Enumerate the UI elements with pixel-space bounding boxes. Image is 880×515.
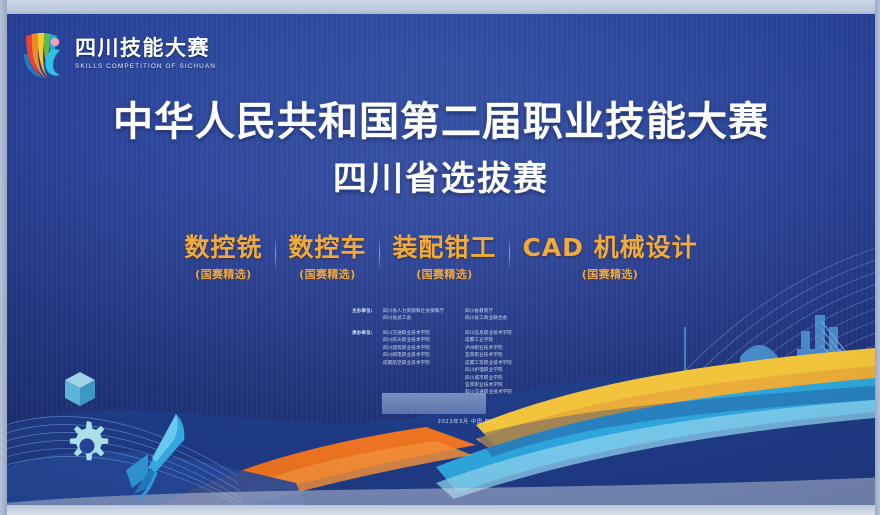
host-entry: 四川信息职业技术学院 (465, 330, 537, 337)
banner-bottom-edge (0, 505, 880, 515)
host-entry: 成都航空职业技术学院 (383, 360, 455, 367)
organizer-entry: 四川省工商业联合会 (465, 315, 537, 322)
rainbow-fan-logo-icon (22, 28, 68, 80)
gate-building-icon (724, 327, 794, 477)
category-name: 装配钳工 (392, 234, 496, 263)
category-note: (国赛精选) (522, 266, 697, 282)
organizer-label: 主办单位: (352, 308, 383, 315)
host-label: 承办单位: (352, 330, 383, 337)
rocket-icon (114, 410, 204, 502)
host-entry: 宜宾职业技术学院 (465, 382, 537, 389)
bridge-icon (791, 309, 876, 479)
gear-icon (61, 420, 113, 472)
category-item-3: CAD 机械设计 (国赛精选) (509, 234, 710, 282)
host-entry: 四川护理职业学院 (465, 367, 537, 374)
host-entry: 四川航天职业技术学院 (383, 337, 455, 344)
category-note: (国赛精选) (392, 266, 496, 282)
category-item-2: 装配钳工 (国赛精选) (379, 234, 509, 282)
organizer-entry: 四川省总工会 (383, 315, 455, 322)
sub-title: 四川省选拔赛 (6, 151, 876, 200)
credits-block: 主办单位: 四川省人力资源和社会保障厅 四川省总工会 四川省教育厅 四川省工商业… (352, 308, 582, 404)
event-backdrop-photo: 四川技能大赛 SKILLS COMPETITION OF SICHUAN 中华人… (0, 0, 880, 515)
host-entry: 四川城市职业学院 (465, 375, 537, 382)
host-entry: 四川建筑职业技术学院 (383, 345, 455, 352)
host-entry: 泸州职业技术学院 (465, 345, 537, 352)
host-entry: 成都工贸职业技术学院 (465, 360, 537, 367)
category-item-0: 数控铣 (国赛精选) (171, 234, 275, 282)
organizer-column-1: 四川省人力资源和社会保障厅 四川省总工会 (383, 308, 455, 323)
organizer-entry: 四川省人力资源和社会保障厅 (383, 308, 455, 315)
main-title: 中华人民共和国第二届职业技能大赛 (6, 100, 876, 145)
title-block: 中华人民共和国第二届职业技能大赛 四川省选拔赛 (6, 100, 876, 200)
cube-icon (63, 370, 97, 408)
host-row: 承办单位: 四川交通职业技术学院 四川航天职业技术学院 四川建筑职业技术学院 四… (352, 330, 582, 397)
host-entry: 四川交通职业技术学院 (383, 330, 455, 337)
tv-tower-icon (651, 327, 721, 487)
category-note: (国赛精选) (184, 266, 262, 282)
competition-logo: 四川技能大赛 SKILLS COMPETITION OF SICHUAN (22, 28, 216, 80)
host-column-1: 四川交通职业技术学院 四川航天职业技术学院 四川建筑职业技术学院 四川邮电职业技… (383, 330, 455, 397)
date-location-line: 2023年3月 中国·四川 (352, 418, 582, 425)
backdrop-banner: 四川技能大赛 SKILLS COMPETITION OF SICHUAN 中华人… (6, 12, 876, 507)
banner-top-edge (0, 0, 880, 14)
category-note: (国赛精选) (288, 266, 366, 282)
green-hill-ribbon (546, 419, 876, 499)
host-entry: 成都工业学院 (465, 337, 537, 344)
host-column-2: 四川信息职业技术学院 成都工业学院 泸州职业技术学院 宜宾职业技术学院 成都工贸… (465, 330, 537, 397)
host-entry: 四川邮电职业技术学院 (383, 352, 455, 359)
logo-title-en: SKILLS COMPETITION OF SICHUAN (75, 64, 216, 70)
globe-icon (504, 399, 584, 479)
host-entry: 宜宾职业技术学院 (465, 352, 537, 359)
category-name: 数控车 (288, 234, 366, 263)
car-icon (554, 427, 684, 489)
logo-title-cn: 四川技能大赛 (75, 38, 216, 59)
blank-placeholder-panel (382, 393, 486, 414)
category-list: 数控铣 (国赛精选) 数控车 (国赛精选) 装配钳工 (国赛精选) CAD 机械… (6, 234, 876, 282)
organizer-column-2: 四川省教育厅 四川省工商业联合会 (465, 308, 537, 323)
organizer-row: 主办单位: 四川省人力资源和社会保障厅 四川省总工会 四川省教育厅 四川省工商业… (352, 308, 582, 323)
category-name: CAD 机械设计 (522, 234, 697, 263)
category-item-1: 数控车 (国赛精选) (275, 234, 379, 282)
organizer-entry: 四川省教育厅 (465, 308, 537, 315)
category-name: 数控铣 (184, 234, 262, 263)
